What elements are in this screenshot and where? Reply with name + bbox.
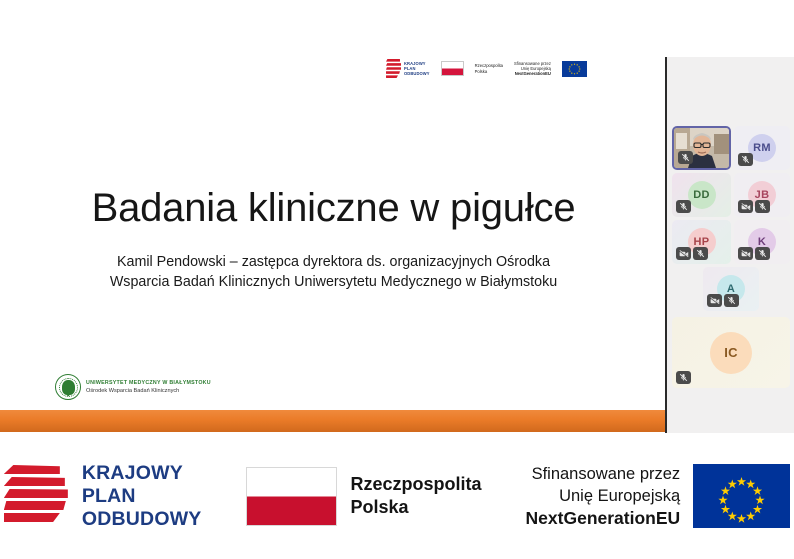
slide-eu-text: Sfinansowane przez Unię Europejską NextG… [514,61,551,76]
eu-stars-icon [693,464,790,528]
slide-kpo-line3: ODBUDOWY [404,71,430,76]
participant-status-badges [676,371,691,384]
university-seal-icon [55,374,81,400]
kpo-mark-icon [386,59,401,78]
camera-off-icon [707,294,722,307]
banner-eu-line1: Sfinansowane przez [526,463,681,485]
mic-off-icon [676,200,691,213]
participant-roster-panel[interactable]: RM DD JB [667,57,794,433]
slide-subtitle-line2: Wsparcia Badań Klinicznych Uniwersytetu … [60,273,607,293]
participant-tile-jb[interactable]: JB [734,173,790,217]
mic-off-icon [755,200,770,213]
banner-kpo-line2: PLAN [82,485,202,508]
banner-eu-text: Sfinansowane przez Unię Europejską NextG… [526,463,681,530]
slide-kpo-text: KRAJOWY PLAN ODBUDOWY [404,61,430,76]
mic-off-icon [676,371,691,384]
participant-avatar-dd: DD [688,181,716,209]
eu-stars-icon [562,61,587,77]
mic-off-icon [755,247,770,260]
slide-title: Badania kliniczne w pigułce [0,186,667,231]
banner-rp-line2: Polska [351,496,482,519]
kpo-mark-icon [4,463,68,529]
camera-off-icon [738,247,753,260]
slide-eu-flag-icon [562,61,587,77]
funding-banner: KRAJOWY PLAN ODBUDOWY Rzeczpospolita Pol… [0,433,794,559]
slide-eu-line3: NextGenerationEU [515,71,551,76]
banner-rp-text: Rzeczpospolita Polska [351,473,482,519]
participant-status-badges [678,151,693,164]
slide-rp-line1: Rzeczpospolita [475,63,503,68]
participant-status-badges [738,200,770,213]
banner-eu-line3: NextGenerationEU [526,508,681,528]
slide-accent-band [0,410,665,432]
participant-status-badges [676,200,691,213]
eu-flag-icon [693,464,790,528]
participant-status-badges [676,247,708,260]
participant-status-badges [738,247,770,260]
poland-flag-icon [246,467,337,526]
camera-off-icon [738,200,753,213]
banner-kpo-line1: KRAJOWY [82,462,202,485]
banner-kpo-text: KRAJOWY PLAN ODBUDOWY [82,462,202,531]
banner-kpo-logo: KRAJOWY PLAN ODBUDOWY [4,462,202,531]
participant-avatar-ic: IC [710,332,752,374]
slide-rp-text: Rzeczpospolita Polska [475,63,503,74]
participant-initials: DD [693,189,710,201]
participant-tile-ic[interactable]: IC [672,317,790,388]
mic-off-icon [724,294,739,307]
banner-eu-logo: Sfinansowane przez Unię Europejską NextG… [526,463,791,530]
mic-off-icon [678,151,693,164]
shared-screen-slide[interactable]: KRAJOWY PLAN ODBUDOWY Rzeczpospolita Pol… [0,0,667,433]
meeting-screen: KRAJOWY PLAN ODBUDOWY Rzeczpospolita Pol… [0,0,794,559]
slide-kpo-logo: KRAJOWY PLAN ODBUDOWY [386,59,430,78]
slide-poland-flag-icon [441,61,464,76]
mic-off-icon [738,153,753,166]
banner-kpo-line3: ODBUDOWY [82,508,202,531]
banner-rp-logo: Rzeczpospolita Polska [246,467,482,526]
participant-initials: RM [753,142,771,154]
camera-off-icon [676,247,691,260]
participant-tile-k[interactable]: K [734,220,790,264]
participant-status-badges [707,294,739,307]
slide-subtitle-line1: Kamil Pendowski – zastępca dyrektora ds.… [60,253,607,273]
banner-rp-line1: Rzeczpospolita [351,473,482,496]
slide-funding-logos: KRAJOWY PLAN ODBUDOWY Rzeczpospolita Pol… [386,59,587,78]
participant-tile-video-speaker[interactable] [672,126,731,170]
university-unit: Ośrodek Wsparcia Badań Klinicznych [86,388,211,394]
tree-icon [62,380,75,395]
participant-tile-rm[interactable]: RM [734,126,790,170]
participant-tile-a[interactable]: A [703,267,759,311]
university-logo-text: UNIWERSYTET MEDYCZNY W BIAŁYMSTOKU Ośrod… [86,380,211,394]
university-logo: UNIWERSYTET MEDYCZNY W BIAŁYMSTOKU Ośrod… [55,374,211,400]
banner-eu-line2: Unię Europejską [526,485,681,507]
participant-tile-hp[interactable]: HP [672,220,731,264]
slide-subtitle: Kamil Pendowski – zastępca dyrektora ds.… [60,253,607,292]
participant-initials: IC [724,345,738,360]
slide-rp-line2: Polska [475,69,503,74]
participant-tile-dd[interactable]: DD [672,173,731,217]
mic-off-icon [693,247,708,260]
participant-status-badges [738,153,753,166]
university-name: UNIWERSYTET MEDYCZNY W BIAŁYMSTOKU [86,380,211,386]
